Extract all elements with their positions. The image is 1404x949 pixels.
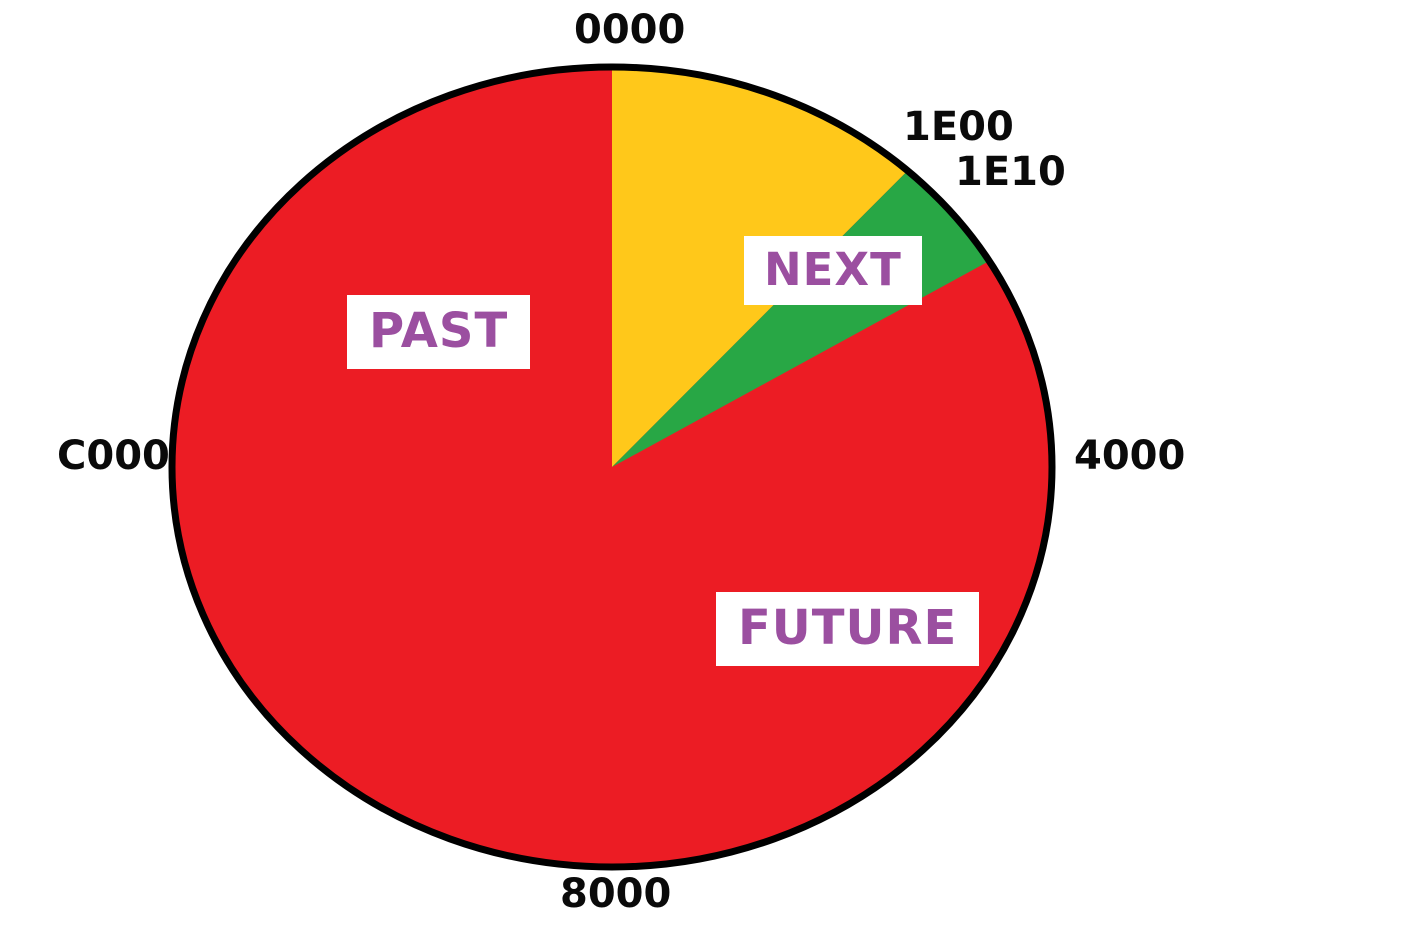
- tick-label-8000: 8000: [560, 874, 671, 914]
- pie-chart-svg: [0, 0, 1404, 949]
- slice-label-next: NEXT: [744, 236, 922, 305]
- sequence-number-wheel-diagram: 0000 1E00 1E10 4000 8000 C000 PAST NEXT …: [0, 0, 1404, 949]
- tick-label-0000: 0000: [574, 10, 685, 50]
- tick-label-4000: 4000: [1074, 436, 1185, 476]
- tick-label-1e00: 1E00: [903, 107, 1014, 147]
- tick-label-1e10: 1E10: [955, 152, 1066, 192]
- tick-label-c000: C000: [57, 436, 170, 476]
- slice-label-past: PAST: [347, 295, 530, 369]
- slice-label-future: FUTURE: [716, 592, 979, 666]
